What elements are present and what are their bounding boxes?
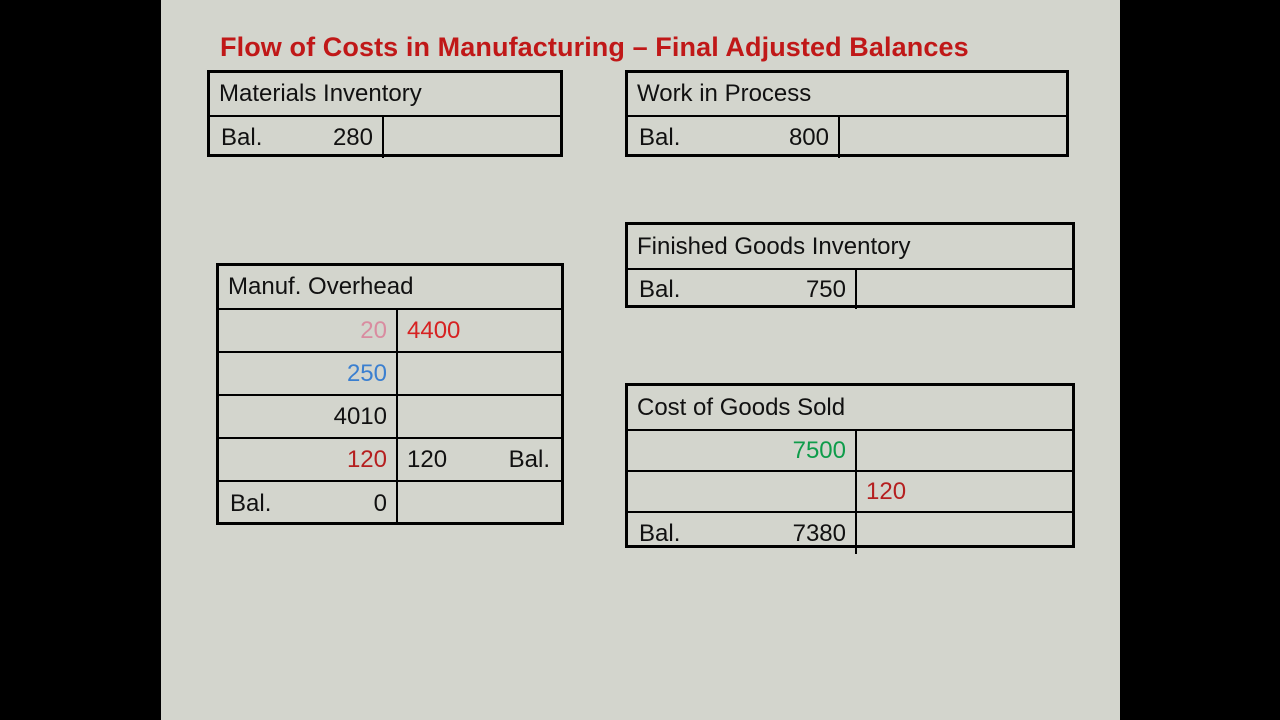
account-row: 120120Bal. (219, 439, 561, 482)
credit-cell (398, 482, 561, 525)
account-row: 4010 (219, 396, 561, 439)
account-title: Manuf. Overhead (219, 266, 561, 310)
account-row: 7500 (628, 431, 1072, 472)
debit-cell: Bal.7380 (628, 513, 857, 554)
debit-amount: 0 (374, 490, 387, 518)
debit-amount: 250 (347, 360, 387, 388)
debit-cell: 250 (219, 353, 398, 394)
screen: Flow of Costs in Manufacturing – Final A… (0, 0, 1280, 720)
account-row: 204400 (219, 310, 561, 353)
credit-label: Bal. (509, 446, 550, 474)
debit-label: Bal. (639, 520, 680, 548)
slide-canvas: Flow of Costs in Manufacturing – Final A… (161, 0, 1120, 720)
debit-amount: 20 (360, 317, 387, 345)
credit-cell (840, 117, 1066, 158)
account-row: 120 (628, 472, 1072, 513)
account-title: Cost of Goods Sold (628, 386, 1072, 431)
credit-cell (857, 431, 1072, 470)
account-row: 250 (219, 353, 561, 396)
t-account-work-in-process: Work in ProcessBal.800 (625, 70, 1069, 157)
debit-cell: 7500 (628, 431, 857, 470)
debit-cell: 120 (219, 439, 398, 480)
debit-label: Bal. (639, 276, 680, 304)
debit-amount: 4010 (334, 403, 387, 431)
credit-cell (857, 270, 1072, 309)
account-row: Bal.0 (219, 482, 561, 525)
credit-cell (398, 396, 561, 437)
credit-amount: 120 (866, 478, 906, 506)
account-row: Bal.7380 (628, 513, 1072, 554)
debit-cell: Bal.280 (210, 117, 384, 158)
credit-cell: 4400 (398, 310, 561, 351)
debit-amount: 7500 (793, 437, 846, 465)
debit-label: Bal. (230, 490, 271, 518)
debit-amount: 800 (789, 124, 829, 152)
debit-label: Bal. (221, 124, 262, 152)
credit-amount: 4400 (407, 317, 460, 345)
debit-cell (628, 472, 857, 511)
credit-cell (857, 513, 1072, 554)
credit-cell: 120 (857, 472, 1072, 511)
debit-amount: 7380 (793, 520, 846, 548)
debit-cell: Bal.0 (219, 482, 398, 525)
credit-cell (384, 117, 560, 158)
debit-amount: 280 (333, 124, 373, 152)
debit-cell: 20 (219, 310, 398, 351)
credit-cell: 120Bal. (398, 439, 561, 480)
credit-cell (398, 353, 561, 394)
debit-amount: 120 (347, 446, 387, 474)
page-title: Flow of Costs in Manufacturing – Final A… (220, 30, 1100, 64)
account-title: Work in Process (628, 73, 1066, 117)
debit-amount: 750 (806, 276, 846, 304)
account-row: Bal.280 (210, 117, 560, 158)
t-account-finished-goods-inventory: Finished Goods InventoryBal.750 (625, 222, 1075, 308)
account-title: Materials Inventory (210, 73, 560, 117)
debit-label: Bal. (639, 124, 680, 152)
debit-cell: 4010 (219, 396, 398, 437)
debit-cell: Bal.800 (628, 117, 840, 158)
account-row: Bal.750 (628, 270, 1072, 309)
debit-cell: Bal.750 (628, 270, 857, 309)
t-account-manufacturing-overhead: Manuf. Overhead2044002504010120120Bal.Ba… (216, 263, 564, 525)
t-account-materials-inventory: Materials InventoryBal.280 (207, 70, 563, 157)
account-title: Finished Goods Inventory (628, 225, 1072, 270)
t-account-cost-of-goods-sold: Cost of Goods Sold7500120Bal.7380 (625, 383, 1075, 548)
credit-amount: 120 (407, 446, 447, 474)
account-row: Bal.800 (628, 117, 1066, 158)
